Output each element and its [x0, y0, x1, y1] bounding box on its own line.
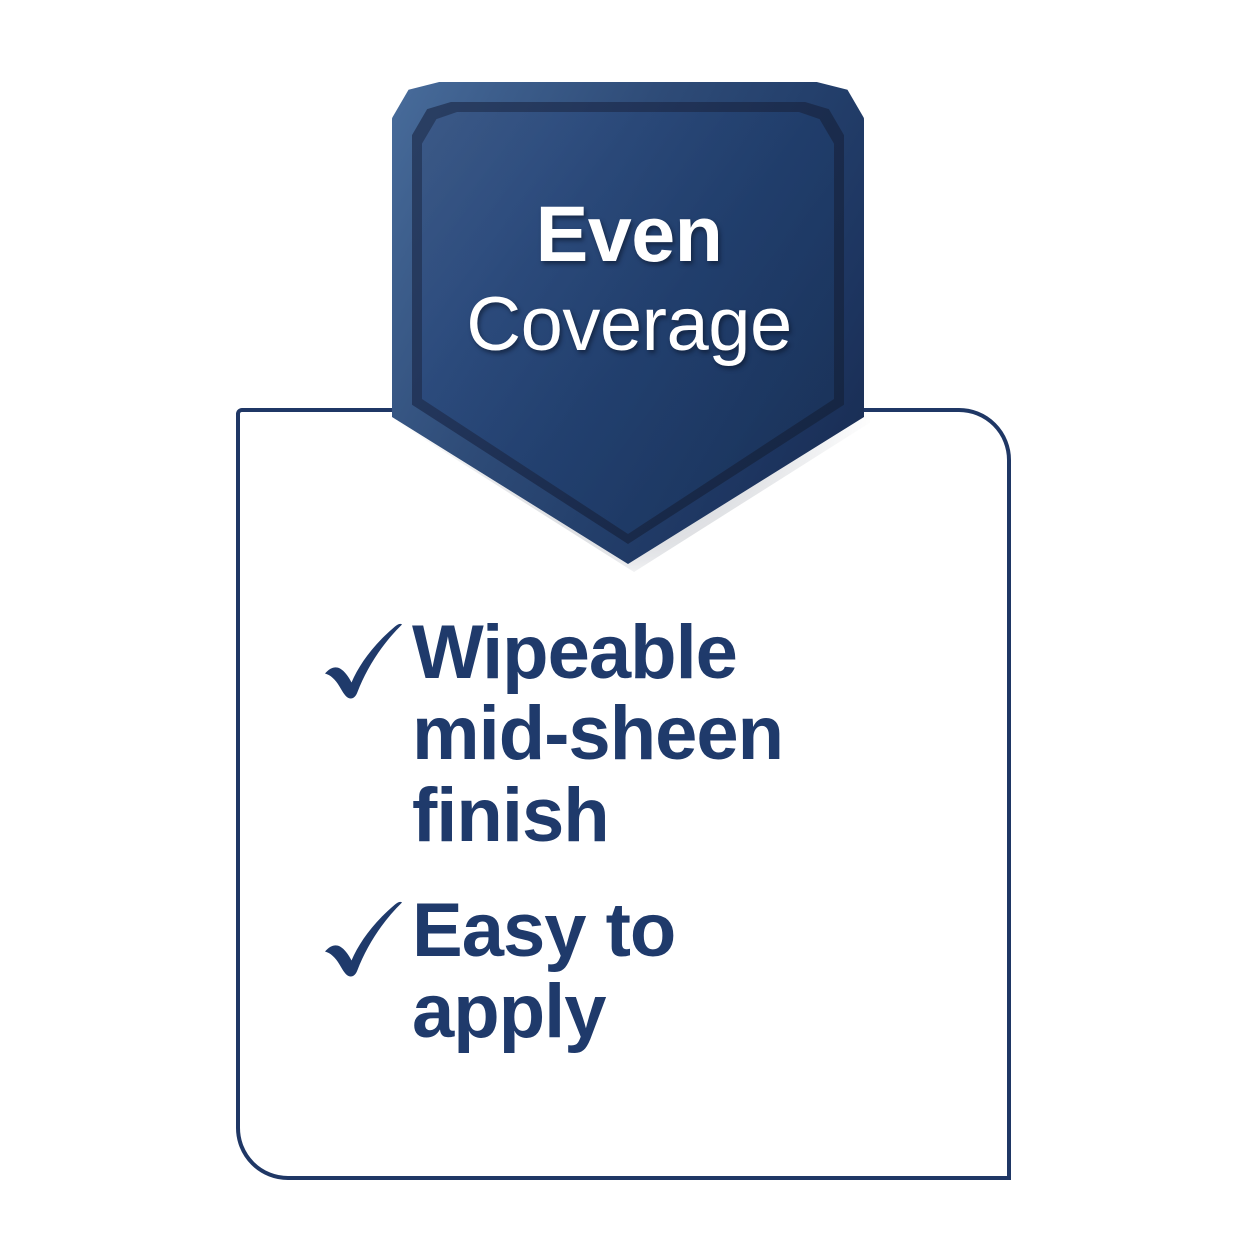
check-mark-icon [320, 890, 412, 982]
feature-list: Wipeable mid-sheen finish Easy to apply [320, 612, 960, 1087]
list-item-label: Easy to apply [412, 890, 960, 1053]
badge-headline-secondary: Coverage [386, 287, 872, 363]
list-item: Easy to apply [320, 890, 960, 1053]
check-mark-icon [320, 612, 412, 704]
product-feature-card: Even Coverage Wipeable mid-sheen finish … [0, 0, 1250, 1250]
badge-headline-primary: Even [386, 194, 872, 273]
list-item: Wipeable mid-sheen finish [320, 612, 960, 856]
badge-text-block: Even Coverage [386, 194, 872, 363]
list-item-label: Wipeable mid-sheen finish [412, 612, 960, 856]
even-coverage-badge: Even Coverage [386, 76, 872, 572]
